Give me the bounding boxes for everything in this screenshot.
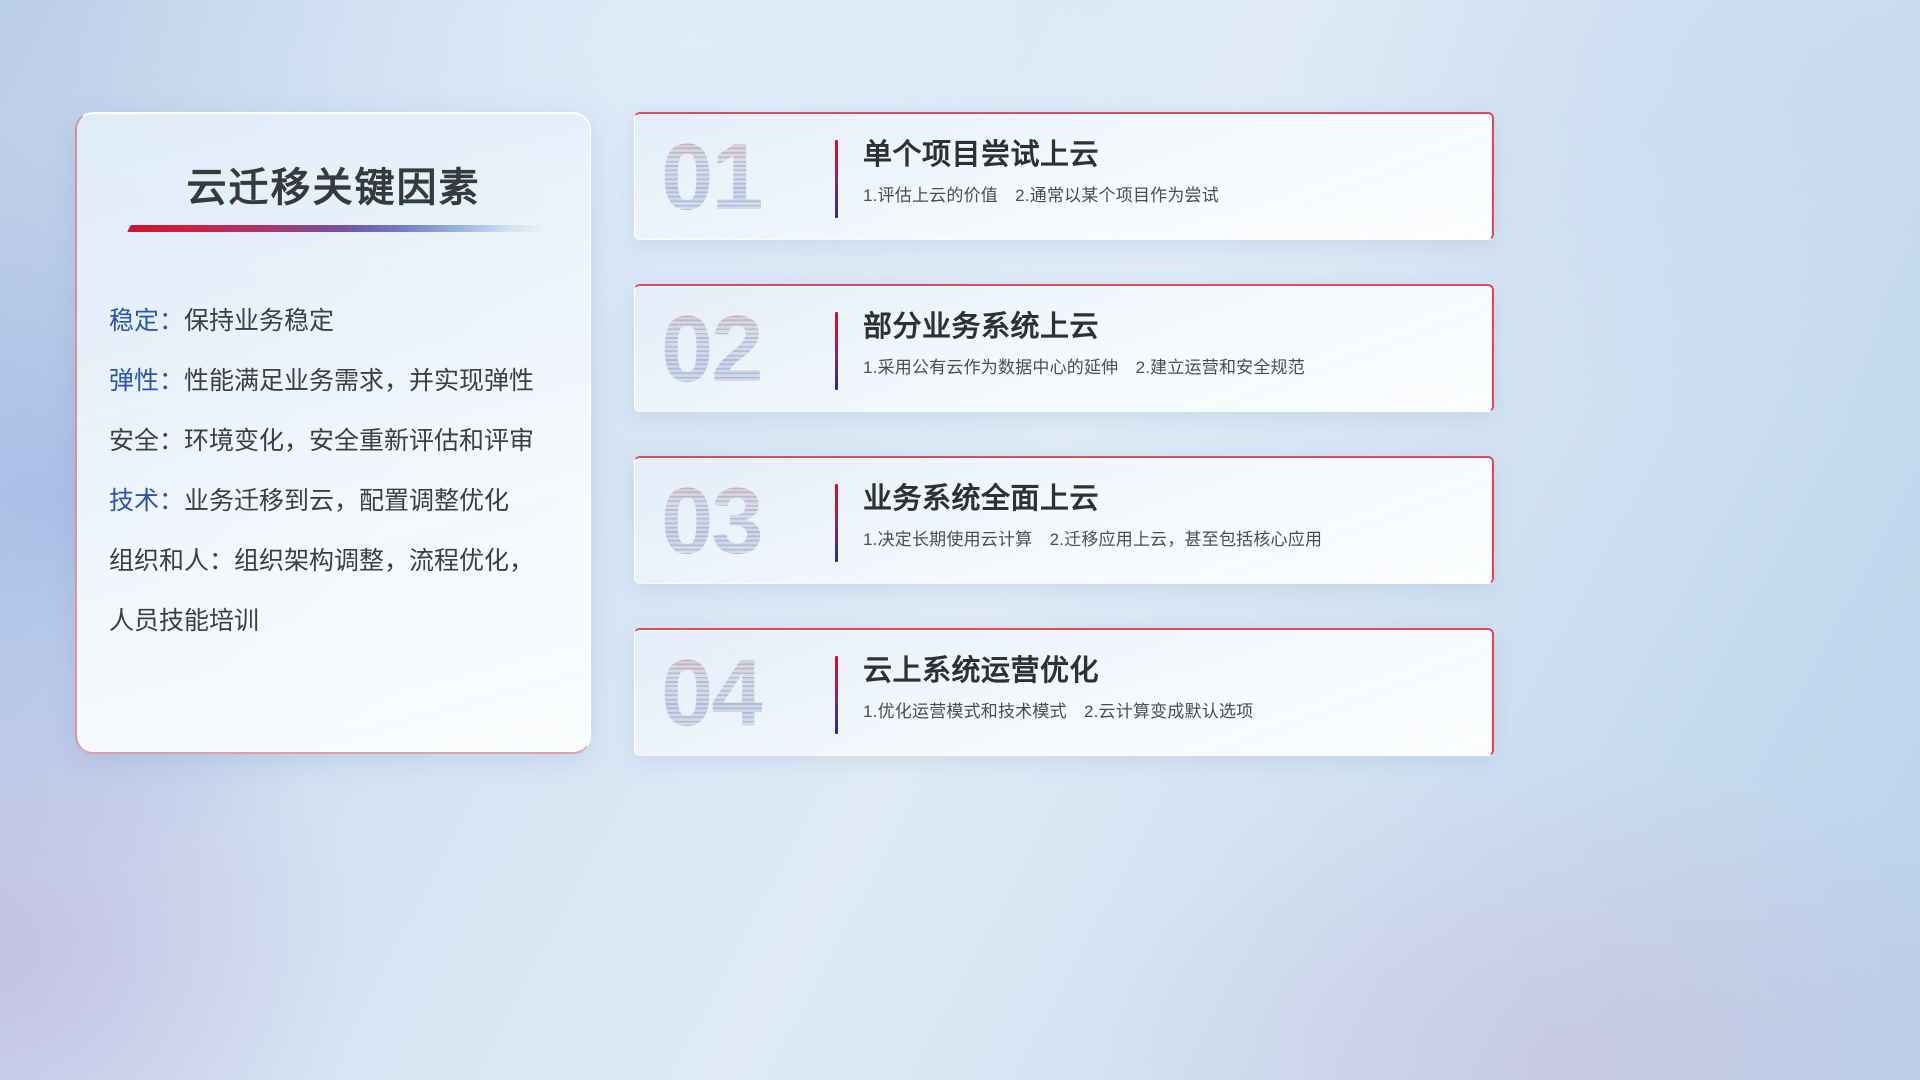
list-item-text: 保持业务稳定 bbox=[184, 307, 334, 335]
title-underline-accent bbox=[127, 225, 545, 232]
stage-number-watermark: 03 bbox=[661, 474, 762, 568]
list-item: 组织和人：组织架构调整，流程优化， bbox=[109, 549, 566, 574]
stage-card-title: 业务系统全面上云 bbox=[863, 482, 1474, 516]
stage-card-subtitle: 1.评估上云的价值 2.通常以某个项目作为尝试 bbox=[863, 185, 1474, 207]
stage-card-title: 部分业务系统上云 bbox=[863, 310, 1474, 344]
list-item: 安全：环境变化，安全重新评估和评审 bbox=[109, 429, 566, 454]
key-factors-panel: 云迁移关键因素 稳定：保持业务稳定 弹性：性能满足业务需求，并实现弹性 安全：环… bbox=[75, 112, 591, 754]
stage-card-body: 云上系统运营优化 1.优化运营模式和技术模式 2.云计算变成默认选项 bbox=[863, 654, 1474, 723]
stage-card-body: 单个项目尝试上云 1.评估上云的价值 2.通常以某个项目作为尝试 bbox=[863, 138, 1474, 207]
stage-card-03[interactable]: 03 业务系统全面上云 1.决定长期使用云计算 2.迁移应用上云，甚至包括核心应… bbox=[634, 456, 1494, 584]
stage-divider-bar bbox=[835, 140, 838, 218]
stage-number-watermark: 01 bbox=[661, 130, 762, 224]
stage-card-body: 部分业务系统上云 1.采用公有云作为数据中心的延伸 2.建立运营和安全规范 bbox=[863, 310, 1474, 379]
list-item: 稳定：保持业务稳定 bbox=[109, 309, 566, 334]
list-item-text: 环境变化，安全重新评估和评审 bbox=[184, 427, 534, 455]
stage-divider-bar bbox=[835, 312, 838, 390]
list-item: 人员技能培训 bbox=[109, 609, 566, 634]
migration-stage-cards: 01 单个项目尝试上云 1.评估上云的价值 2.通常以某个项目作为尝试 02 部… bbox=[634, 112, 1494, 756]
list-item-label: 安全： bbox=[109, 427, 184, 455]
list-item-text: 性能满足业务需求，并实现弹性 bbox=[184, 367, 534, 395]
stage-card-01[interactable]: 01 单个项目尝试上云 1.评估上云的价值 2.通常以某个项目作为尝试 bbox=[634, 112, 1494, 240]
list-item-text: 人员技能培训 bbox=[109, 607, 259, 635]
stage-card-subtitle: 1.优化运营模式和技术模式 2.云计算变成默认选项 bbox=[863, 701, 1474, 723]
stage-card-02[interactable]: 02 部分业务系统上云 1.采用公有云作为数据中心的延伸 2.建立运营和安全规范 bbox=[634, 284, 1494, 412]
stage-divider-bar bbox=[835, 656, 838, 734]
slide-canvas: 云迁移关键因素 稳定：保持业务稳定 弹性：性能满足业务需求，并实现弹性 安全：环… bbox=[0, 0, 1920, 1080]
stage-card-04[interactable]: 04 云上系统运营优化 1.优化运营模式和技术模式 2.云计算变成默认选项 bbox=[634, 628, 1494, 756]
stage-card-subtitle: 1.决定长期使用云计算 2.迁移应用上云，甚至包括核心应用 bbox=[863, 529, 1474, 551]
stage-divider-bar bbox=[835, 484, 838, 562]
stage-number-watermark: 04 bbox=[661, 646, 762, 740]
list-item-label: 稳定： bbox=[109, 307, 184, 335]
list-item-label: 技术： bbox=[109, 487, 184, 515]
page-title: 云迁移关键因素 bbox=[77, 155, 590, 213]
stage-card-title: 云上系统运营优化 bbox=[863, 654, 1474, 688]
stage-card-title: 单个项目尝试上云 bbox=[863, 138, 1474, 172]
list-item-label: 弹性： bbox=[109, 367, 184, 395]
stage-card-subtitle: 1.采用公有云作为数据中心的延伸 2.建立运营和安全规范 bbox=[863, 357, 1474, 379]
key-factors-list: 稳定：保持业务稳定 弹性：性能满足业务需求，并实现弹性 安全：环境变化，安全重新… bbox=[109, 309, 566, 634]
stage-number-watermark: 02 bbox=[661, 302, 762, 396]
list-item: 技术：业务迁移到云，配置调整优化 bbox=[109, 489, 566, 514]
stage-card-body: 业务系统全面上云 1.决定长期使用云计算 2.迁移应用上云，甚至包括核心应用 bbox=[863, 482, 1474, 551]
list-item: 弹性：性能满足业务需求，并实现弹性 bbox=[109, 369, 566, 394]
list-item-text: 业务迁移到云，配置调整优化 bbox=[184, 487, 509, 515]
list-item-text: 组织架构调整，流程优化， bbox=[234, 547, 534, 575]
list-item-label: 组织和人： bbox=[109, 547, 234, 575]
